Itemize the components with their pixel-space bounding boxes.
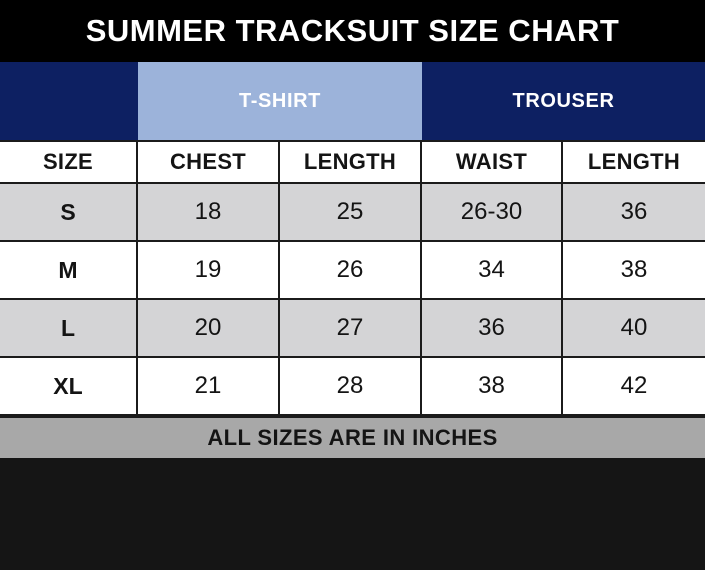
group-header-blank: [0, 62, 138, 140]
cell-waist: 26-30: [422, 184, 563, 240]
page-title: SUMMER TRACKSUIT SIZE CHART: [86, 13, 620, 49]
footer-note: ALL SIZES ARE IN INCHES: [207, 425, 497, 451]
cell-waist: 34: [422, 242, 563, 298]
group-header-row: T-SHIRT TROUSER: [0, 62, 705, 140]
group-header-trouser: TROUSER: [422, 62, 705, 140]
column-header-row: SIZE CHEST LENGTH WAIST LENGTH: [0, 142, 705, 184]
title-band: SUMMER TRACKSUIT SIZE CHART: [0, 0, 705, 62]
cell-waist: 36: [422, 300, 563, 356]
bottom-padding: [0, 458, 705, 570]
table-row: S 18 25 26-30 36: [0, 184, 705, 242]
cell-waist: 38: [422, 358, 563, 414]
cell-trouser-length: 42: [563, 358, 705, 414]
column-header-chest: CHEST: [138, 142, 280, 182]
cell-shirt-length: 27: [280, 300, 422, 356]
cell-size: M: [0, 242, 138, 298]
cell-trouser-length: 38: [563, 242, 705, 298]
cell-trouser-length: 36: [563, 184, 705, 240]
column-header-size: SIZE: [0, 142, 138, 182]
cell-chest: 18: [138, 184, 280, 240]
column-header-trouser-length: LENGTH: [563, 142, 705, 182]
column-header-shirt-length: LENGTH: [280, 142, 422, 182]
cell-trouser-length: 40: [563, 300, 705, 356]
column-header-waist: WAIST: [422, 142, 563, 182]
cell-shirt-length: 26: [280, 242, 422, 298]
table-row: XL 21 28 38 42: [0, 358, 705, 416]
cell-shirt-length: 25: [280, 184, 422, 240]
size-table: SIZE CHEST LENGTH WAIST LENGTH S 18 25 2…: [0, 140, 705, 416]
size-chart: SUMMER TRACKSUIT SIZE CHART T-SHIRT TROU…: [0, 0, 705, 570]
cell-chest: 21: [138, 358, 280, 414]
footer-band: ALL SIZES ARE IN INCHES: [0, 416, 705, 458]
cell-size: S: [0, 184, 138, 240]
cell-chest: 19: [138, 242, 280, 298]
cell-shirt-length: 28: [280, 358, 422, 414]
group-header-tshirt: T-SHIRT: [138, 62, 422, 140]
table-row: L 20 27 36 40: [0, 300, 705, 358]
cell-size: XL: [0, 358, 138, 414]
table-row: M 19 26 34 38: [0, 242, 705, 300]
cell-size: L: [0, 300, 138, 356]
cell-chest: 20: [138, 300, 280, 356]
